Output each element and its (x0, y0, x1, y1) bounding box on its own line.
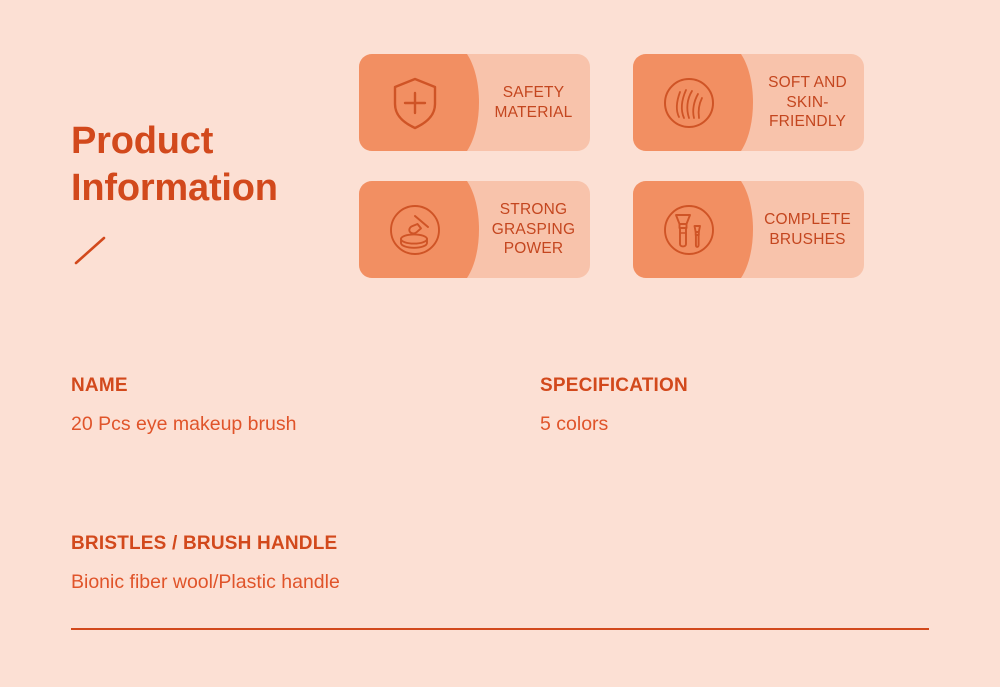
spec-row-specification: SPECIFICATION 5 colors (540, 375, 688, 436)
brush-powder-compact-circle-icon (385, 200, 445, 260)
spec-row-name: NAME 20 Pcs eye makeup brush (71, 375, 296, 436)
badge-label: SAFETY MATERIAL (477, 54, 590, 151)
soft-fibers-circle-icon (659, 73, 719, 133)
feature-badge-safety-material[interactable]: SAFETY MATERIAL (359, 54, 590, 151)
spec-label: BRISTLES / BRUSH HANDLE (71, 533, 340, 555)
page-title-line-2: Information (71, 165, 341, 212)
two-brushes-circle-icon (659, 200, 719, 260)
product-information-page: Product Information SAFETY MATERIAL (0, 0, 1000, 687)
diagonal-slash-icon (72, 234, 112, 268)
spec-value: 5 colors (540, 413, 688, 436)
badge-label: STRONG GRASPING POWER (477, 181, 590, 278)
bottom-divider (71, 628, 929, 630)
spec-label: SPECIFICATION (540, 375, 688, 397)
page-title-line-1: Product (71, 118, 341, 165)
spec-value: 20 Pcs eye makeup brush (71, 413, 296, 436)
spec-label: NAME (71, 375, 296, 397)
spec-row-bristles-brush-handle: BRISTLES / BRUSH HANDLE Bionic fiber woo… (71, 533, 340, 594)
badge-label: SOFT AND SKIN-FRIENDLY (751, 54, 864, 151)
feature-badge-soft-skin-friendly[interactable]: SOFT AND SKIN-FRIENDLY (633, 54, 864, 151)
feature-badge-complete-brushes[interactable]: COMPLETE BRUSHES (633, 181, 864, 278)
badge-label: COMPLETE BRUSHES (751, 181, 864, 278)
page-title: Product Information (71, 118, 341, 212)
shield-plus-icon (385, 73, 445, 133)
spec-value: Bionic fiber wool/Plastic handle (71, 571, 340, 594)
feature-badge-strong-grasping-power[interactable]: STRONG GRASPING POWER (359, 181, 590, 278)
